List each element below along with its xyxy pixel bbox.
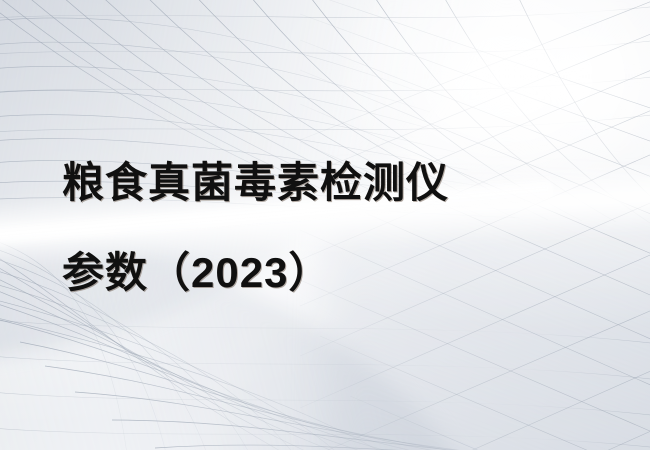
page-title: 粮食真菌毒素检测仪 参数（2023） — [62, 138, 582, 318]
page-title-line-1: 粮食真菌毒素检测仪 — [62, 138, 582, 228]
banner-image: 粮食真菌毒素检测仪 参数（2023） — [0, 0, 650, 450]
page-title-line-2: 参数（2023） — [62, 228, 582, 318]
